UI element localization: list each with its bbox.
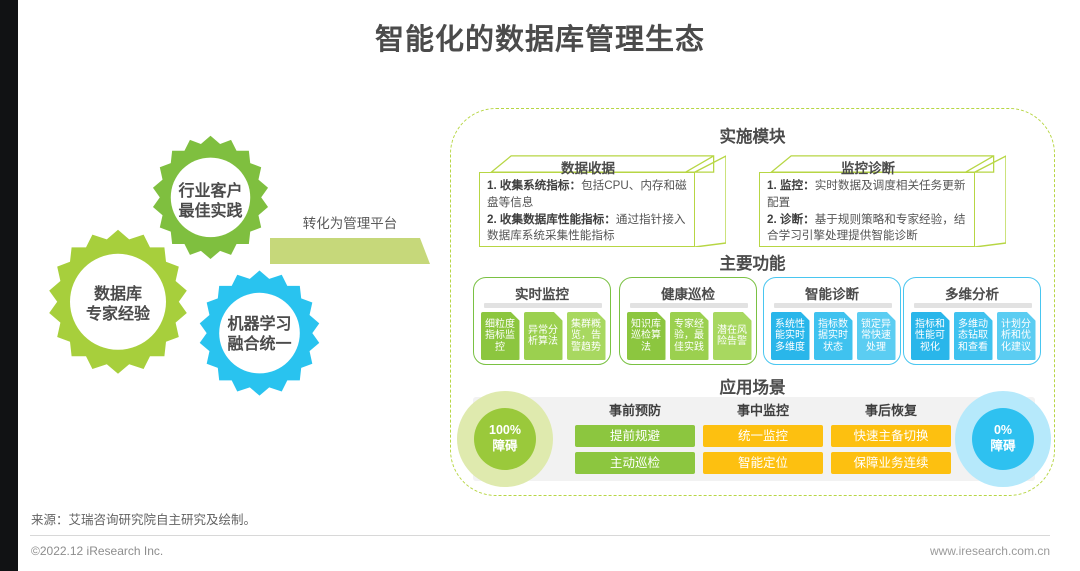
function-pill[interactable]: 计划分析和优化建议 (997, 312, 1036, 360)
transform-arrow-label: 转化为管理平台 (270, 212, 430, 232)
function-card-pills: 系统性能实时多维度 指标数据实时状态 锁定异常快速处理 (770, 312, 896, 360)
function-card-divider (914, 303, 1032, 308)
scenario-item[interactable]: 统一监控 (703, 425, 823, 447)
source-note: 来源：艾瑞咨询研究院自主研究及绘制。 (31, 509, 256, 528)
function-pill[interactable]: 潜在风险告警 (713, 312, 752, 360)
function-card-pills: 细粒度指标监控 异常分析算法 集群概览，告警趋势 (480, 312, 606, 360)
platform-panel: 实施模块 数据收据 1. 收集系统指标：包括CPU、内存和磁盘等信息 2. 收集… (450, 108, 1055, 496)
badge-value: 100% (489, 423, 521, 439)
function-card-pills: 指标和性能可视化 多维动态钻取和查看 计划分析和优化建议 (910, 312, 1036, 360)
badge-inner: 0% 障碍 (972, 408, 1034, 470)
gear-right-icon (200, 271, 320, 396)
box-body: 数据收据 1. 收集系统指标：包括CPU、内存和磁盘等信息 2. 收集数据库性能… (479, 172, 695, 247)
section-title-functions: 主要功能 (451, 250, 1054, 274)
module-title: 数据收据 (480, 157, 696, 177)
module-title: 监控诊断 (760, 157, 976, 177)
scenario-column-recovery: 事后恢复 快速主备切换 保障业务连续 (831, 402, 951, 474)
scenario-item[interactable]: 保障业务连续 (831, 452, 951, 474)
scenario-item[interactable]: 快速主备切换 (831, 425, 951, 447)
module-item: 2. 收集数据库性能指标：通过指针接入数据库系统采集性能指标 (487, 212, 691, 246)
gear-database-expert: 数据库 专家经验 (38, 225, 198, 385)
badge-inner: 100% 障碍 (474, 408, 536, 470)
website-link[interactable]: www.iresearch.com.cn (930, 544, 1050, 558)
function-card-title: 智能诊断 (764, 283, 900, 303)
scenario-column-header: 事后恢复 (831, 402, 951, 420)
function-pill[interactable]: 多维动态钻取和查看 (954, 312, 993, 360)
function-card-realtime-monitoring[interactable]: 实时监控 细粒度指标监控 异常分析算法 集群概览，告警趋势 (473, 277, 611, 365)
module-items: 1. 收集系统指标：包括CPU、内存和磁盘等信息 2. 收集数据库性能指标：通过… (487, 178, 691, 245)
badge-value: 0% (994, 423, 1012, 439)
module-box-data-collection: 数据收据 1. 收集系统指标：包括CPU、内存和磁盘等信息 2. 收集数据库性能… (479, 155, 726, 247)
badge-100-percent: 100% 障碍 (457, 391, 553, 487)
gear-machine-learning: 机器学习 融合统一 (190, 265, 329, 404)
footer-divider (30, 535, 1050, 536)
function-card-divider (630, 303, 748, 308)
scenario-columns: 事前预防 提前规避 主动巡检 事中监控 统一监控 智能定位 事后恢复 快速主备切… (575, 402, 951, 474)
scenario-column-header: 事前预防 (575, 402, 695, 420)
badge-0-percent: 0% 障碍 (955, 391, 1051, 487)
transform-arrow: 转化为管理平台 (270, 212, 430, 267)
scenario-item[interactable]: 主动巡检 (575, 452, 695, 474)
function-card-pills: 知识库巡检算法 专家经验，最佳实践 潜在风险告警 (626, 312, 752, 360)
scenario-column-header: 事中监控 (703, 402, 823, 420)
function-card-title: 实时监控 (474, 283, 610, 303)
infographic-root: 智能化的数据库管理生态 行业客户 最佳实践 数据库 专家经验 (0, 0, 1080, 571)
scenario-item[interactable]: 提前规避 (575, 425, 695, 447)
function-pill[interactable]: 异常分析算法 (524, 312, 563, 360)
function-pill[interactable]: 系统性能实时多维度 (771, 312, 810, 360)
scenarios-panel: 100% 障碍 事前预防 提前规避 主动巡检 事中监控 统一监控 智能定位 事后… (473, 397, 1035, 481)
function-pill[interactable]: 指标数据实时状态 (814, 312, 853, 360)
function-pill[interactable]: 细粒度指标监控 (481, 312, 520, 360)
scenario-item[interactable]: 智能定位 (703, 452, 823, 474)
badge-label: 障碍 (990, 439, 1015, 455)
function-pill[interactable]: 知识库巡检算法 (627, 312, 666, 360)
function-card-intelligent-diagnosis[interactable]: 智能诊断 系统性能实时多维度 指标数据实时状态 锁定异常快速处理 (763, 277, 901, 365)
page-title: 智能化的数据库管理生态 (0, 16, 1080, 58)
module-box-monitor-diagnose: 监控诊断 1. 监控：实时数据及调度相关任务更新配置 2. 诊断：基于规则策略和… (759, 155, 1006, 247)
function-card-divider (484, 303, 602, 308)
copyright-text: ©2022.12 iResearch Inc. (31, 544, 163, 558)
module-item: 2. 诊断：基于规则策略和专家经验，结合学习引擎处理提供智能诊断 (767, 212, 971, 246)
function-pill[interactable]: 集群概览，告警趋势 (567, 312, 606, 360)
arrow-shape-icon (270, 236, 430, 266)
badge-label: 障碍 (492, 439, 517, 455)
module-item: 1. 收集系统指标：包括CPU、内存和磁盘等信息 (487, 178, 691, 212)
gear-left-icon (49, 230, 187, 374)
box-body: 监控诊断 1. 监控：实时数据及调度相关任务更新配置 2. 诊断：基于规则策略和… (759, 172, 975, 247)
section-title-scenarios: 应用场景 (451, 374, 1054, 398)
scenario-column-prevention: 事前预防 提前规避 主动巡检 (575, 402, 695, 474)
function-card-title: 多维分析 (904, 283, 1040, 303)
section-title-implementation: 实施模块 (451, 123, 1054, 147)
scenario-column-monitoring: 事中监控 统一监控 智能定位 (703, 402, 823, 474)
module-items: 1. 监控：实时数据及调度相关任务更新配置 2. 诊断：基于规则策略和专家经验，… (767, 178, 971, 245)
module-item: 1. 监控：实时数据及调度相关任务更新配置 (767, 178, 971, 212)
function-card-health-inspection[interactable]: 健康巡检 知识库巡检算法 专家经验，最佳实践 潜在风险告警 (619, 277, 757, 365)
left-edge-strip (0, 0, 18, 571)
function-card-multidimensional-analysis[interactable]: 多维分析 指标和性能可视化 多维动态钻取和查看 计划分析和优化建议 (903, 277, 1041, 365)
function-pill[interactable]: 专家经验，最佳实践 (670, 312, 709, 360)
function-pill[interactable]: 指标和性能可视化 (911, 312, 950, 360)
function-card-divider (774, 303, 892, 308)
function-card-title: 健康巡检 (620, 283, 756, 303)
function-pill[interactable]: 锁定异常快速处理 (857, 312, 896, 360)
